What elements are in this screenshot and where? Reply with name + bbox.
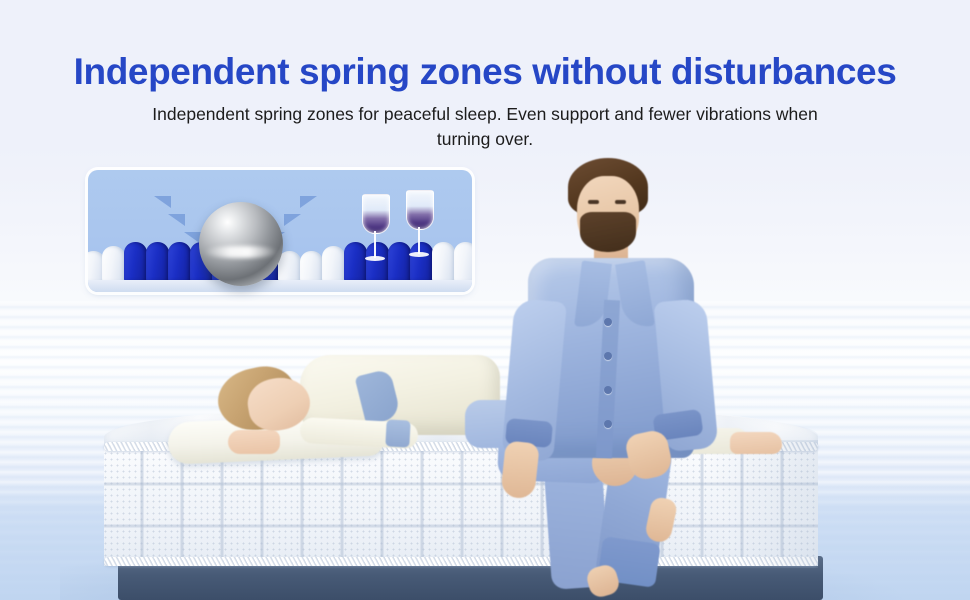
wine-glass	[360, 194, 390, 266]
man-shirt-button	[604, 386, 612, 394]
wine-glass-stem	[418, 227, 420, 254]
wine-glass-bowl	[362, 194, 390, 234]
pocket-spring	[300, 251, 323, 282]
man-shirt-button	[604, 318, 612, 326]
pocket-spring	[146, 242, 169, 282]
wine-glass-foot	[409, 252, 429, 257]
wine-glass-bowl	[406, 190, 434, 230]
page-subtitle: Independent spring zones for peaceful sl…	[135, 102, 835, 152]
man-beard	[580, 212, 636, 252]
mattress-corner-shading	[688, 440, 818, 568]
pocket-spring	[432, 242, 455, 282]
pocket-spring	[454, 242, 472, 282]
wine-glass-foot	[365, 256, 385, 261]
compression-arrow-icon	[168, 214, 185, 238]
man-eye	[615, 200, 626, 204]
wine-glass	[404, 190, 434, 262]
compression-arrow-icon	[300, 196, 317, 220]
woman-hand	[228, 430, 280, 454]
man-shirt-button	[604, 352, 612, 360]
compression-arrow-icon	[284, 214, 301, 238]
wine-glass-stem	[374, 231, 376, 258]
spring-demo-baseboard	[88, 280, 472, 292]
pocket-spring	[102, 246, 125, 282]
steel-ball-highlight	[204, 246, 278, 259]
steel-ball-icon	[199, 202, 283, 286]
product-banner: Independent spring zones without disturb…	[0, 0, 970, 600]
pocket-spring	[124, 242, 147, 282]
man-eye	[588, 200, 599, 204]
woman-cuff	[385, 419, 410, 447]
page-title: Independent spring zones without disturb…	[0, 51, 970, 93]
pocket-spring	[322, 246, 345, 282]
man-shirt-button	[604, 420, 612, 428]
woman-foot	[730, 432, 782, 454]
